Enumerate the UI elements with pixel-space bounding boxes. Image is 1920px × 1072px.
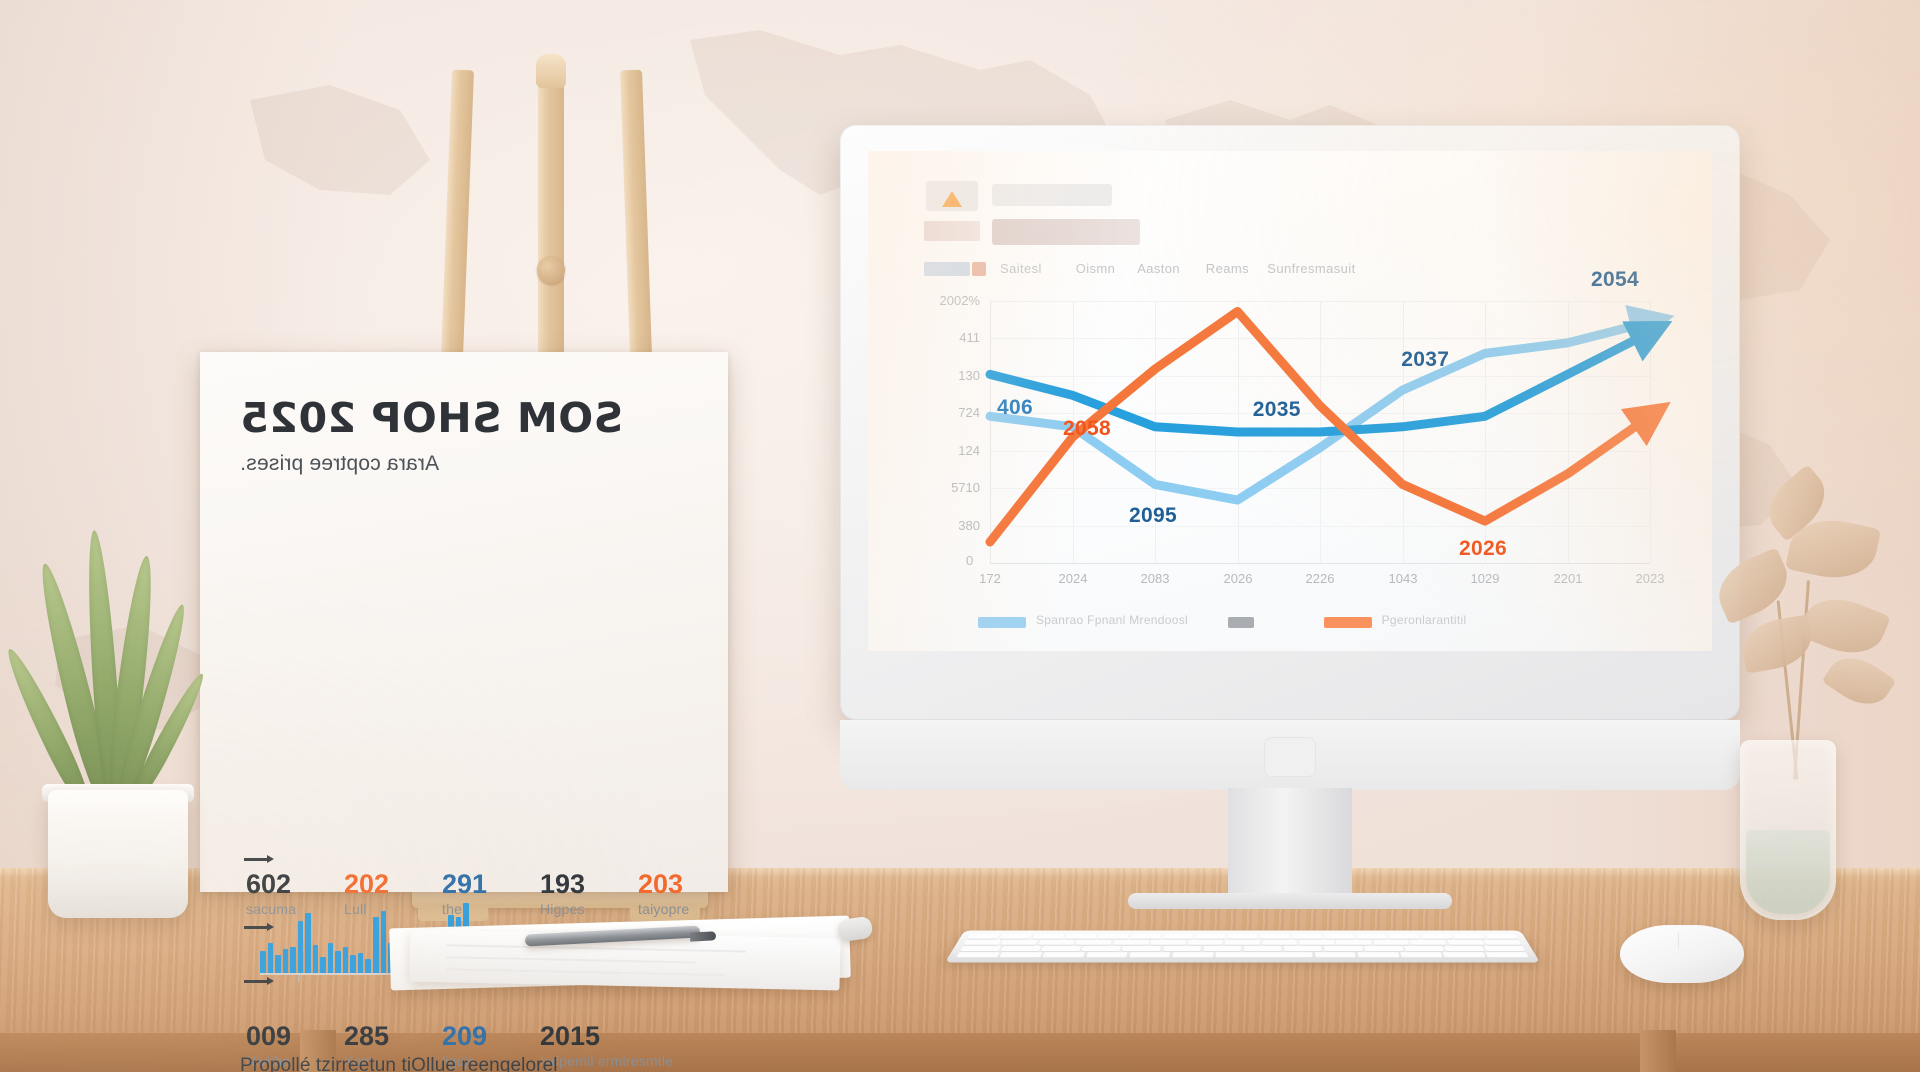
chart-x-axis bbox=[990, 563, 1650, 564]
keyboard[interactable] bbox=[945, 931, 1540, 963]
app-navigation-bar[interactable]: SaiteslOismnAastonReamsSunfresmasuit bbox=[924, 261, 1624, 279]
x-axis-tick-label: 2201 bbox=[1530, 571, 1606, 586]
poster-title-wrap: SOM SHOP 2025 bbox=[240, 394, 688, 442]
keyboard-key[interactable] bbox=[1447, 940, 1484, 945]
keyboard-key[interactable] bbox=[1400, 952, 1442, 957]
keyboard-key[interactable] bbox=[999, 952, 1042, 957]
poster-bar bbox=[343, 947, 349, 973]
poster-bar-tick bbox=[298, 975, 300, 982]
keyboard-row bbox=[956, 952, 1529, 957]
y-axis-tick-label: 5710 bbox=[951, 480, 980, 495]
nav-accent-chip bbox=[972, 262, 986, 276]
poster-bar bbox=[335, 951, 341, 973]
poster-bar bbox=[358, 953, 364, 973]
keyboard-key[interactable] bbox=[1443, 952, 1486, 957]
keyboard-key[interactable] bbox=[1001, 946, 1041, 951]
keyboard-key[interactable] bbox=[1195, 934, 1225, 939]
keyboard-key[interactable] bbox=[1032, 934, 1064, 939]
keyboard-key[interactable] bbox=[1486, 952, 1529, 957]
nav-item[interactable]: Oismn bbox=[1076, 261, 1116, 276]
chart-data-label: 2054 bbox=[1591, 268, 1639, 292]
keyboard-key[interactable] bbox=[1260, 934, 1290, 939]
keyboard-key[interactable] bbox=[1244, 946, 1282, 951]
keyboard-key[interactable] bbox=[960, 946, 1000, 951]
keyboard-key[interactable] bbox=[1299, 940, 1334, 945]
app-title-placeholder bbox=[992, 184, 1112, 206]
keyboard-key[interactable] bbox=[1404, 946, 1444, 951]
x-axis-tick-label: 2023 bbox=[1612, 571, 1688, 586]
keyboard-key[interactable] bbox=[1130, 934, 1161, 939]
keyboard-key[interactable] bbox=[1410, 940, 1447, 945]
chart-data-label: 406 bbox=[997, 396, 1033, 420]
y-axis-tick-label: 411 bbox=[959, 330, 980, 345]
desk-leg-right bbox=[1640, 1030, 1676, 1072]
keyboard-row bbox=[964, 940, 1522, 945]
poster-body-text: Propollé tzirreetun tiOllue reengeloreln… bbox=[240, 1052, 680, 1072]
chart-y-axis-zero: 0 bbox=[966, 553, 973, 568]
poster-content: SOM SHOP 2025 Arara coptree prises. bbox=[200, 352, 728, 892]
keyboard-key[interactable] bbox=[1113, 940, 1149, 945]
poster-title: SOM SHOP 2025 bbox=[240, 394, 623, 442]
keyboard-key[interactable] bbox=[1163, 946, 1201, 951]
keyboard-key[interactable] bbox=[1444, 946, 1484, 951]
x-axis-tick-label: 2083 bbox=[1117, 571, 1193, 586]
x-axis-tick-label: 1029 bbox=[1447, 571, 1523, 586]
keyboard-key[interactable] bbox=[1484, 946, 1524, 951]
paper-ruled-line bbox=[446, 944, 746, 952]
keyboard-key[interactable] bbox=[1421, 934, 1453, 939]
poster-bar bbox=[305, 913, 311, 973]
plant-pot bbox=[48, 790, 188, 918]
poster-bar bbox=[290, 947, 296, 973]
monitor-brand-logo bbox=[1264, 737, 1316, 777]
keyboard-key[interactable] bbox=[1225, 940, 1260, 945]
chart-data-label: 2058 bbox=[1063, 417, 1111, 441]
keyboard-key[interactable] bbox=[1262, 940, 1297, 945]
keyboard-key[interactable] bbox=[1203, 946, 1241, 951]
app-subtitle-bar bbox=[992, 219, 1140, 245]
keyboard-key[interactable] bbox=[1315, 952, 1356, 957]
presentation-poster[interactable]: SOM SHOP 2025 Arara coptree prises. 602s… bbox=[200, 352, 728, 892]
monitor-stand-neck bbox=[1228, 788, 1352, 898]
paper-ruled-line bbox=[446, 968, 726, 976]
keyboard-key[interactable] bbox=[1043, 952, 1085, 957]
poster-subtitle-wrap: Arara coptree prises. bbox=[240, 442, 688, 476]
nav-item[interactable]: Saitesl bbox=[1000, 261, 1042, 276]
poster-subtitle: Arara coptree prises. bbox=[240, 452, 439, 476]
y-axis-tick-label: 124 bbox=[958, 443, 980, 458]
chart-data-label: 2037 bbox=[1401, 348, 1449, 372]
x-axis-tick-label: 2024 bbox=[1035, 571, 1111, 586]
mouse-button-divider bbox=[1678, 933, 1679, 949]
y-axis-tick-label: 724 bbox=[958, 405, 980, 420]
keyboard-key[interactable] bbox=[1082, 946, 1121, 951]
chart-legend: Spanrao Fpnanl MrendooslPgeronlarantitil bbox=[978, 613, 1618, 633]
gridline-vertical bbox=[1650, 301, 1651, 563]
legend-swatch bbox=[978, 617, 1026, 628]
poster-row-marker-top bbox=[244, 858, 270, 861]
y-axis-tick-label: 380 bbox=[958, 518, 980, 533]
poster-bar bbox=[365, 959, 371, 973]
poster-bar bbox=[350, 955, 356, 973]
keyboard-key[interactable] bbox=[1150, 940, 1185, 945]
keyboard-row bbox=[960, 946, 1525, 951]
keyboard-key[interactable] bbox=[1172, 952, 1213, 957]
keyboard-key[interactable] bbox=[1122, 946, 1161, 951]
poster-bar bbox=[320, 957, 326, 973]
vase-water bbox=[1746, 830, 1830, 914]
keyboard-key[interactable] bbox=[1162, 934, 1192, 939]
keyboard-key[interactable] bbox=[1076, 940, 1112, 945]
easel-top-knob bbox=[536, 54, 566, 88]
pen-tip bbox=[690, 931, 716, 941]
poster-stat-value: 009 bbox=[246, 1022, 322, 1050]
poster-bar bbox=[328, 943, 334, 973]
keyboard-key[interactable] bbox=[967, 934, 999, 939]
keyboard-key[interactable] bbox=[1324, 946, 1363, 951]
keyboard-key[interactable] bbox=[1389, 934, 1420, 939]
app-subtitle-left-chip bbox=[924, 221, 980, 241]
poster-bar bbox=[373, 917, 379, 973]
poster-bar bbox=[283, 949, 289, 973]
nav-item[interactable]: Reams bbox=[1206, 261, 1249, 276]
legend-label: Spanrao Fpnanl Mrendoosl bbox=[1036, 613, 1188, 627]
keyboard-key[interactable] bbox=[1357, 952, 1399, 957]
keyboard-key[interactable] bbox=[1356, 934, 1387, 939]
keyboard-key[interactable] bbox=[1065, 934, 1096, 939]
desktop-monitor: SaiteslOismnAastonReamsSunfresmasuit 0 bbox=[840, 125, 1740, 915]
poster-body-line: Propollé tzirreetun tiOllue reengelorel bbox=[240, 1052, 680, 1072]
monitor-stand-base bbox=[1128, 893, 1452, 909]
chart-data-label: 2095 bbox=[1129, 504, 1177, 528]
nav-item[interactable]: Aaston bbox=[1137, 261, 1180, 276]
keyboard-key[interactable] bbox=[1097, 934, 1128, 939]
paper-ruled-line bbox=[446, 956, 696, 963]
keyboard-key[interactable] bbox=[1484, 940, 1521, 945]
keyboard-key[interactable] bbox=[1001, 940, 1038, 945]
poster-stat-value: 285 bbox=[344, 1022, 420, 1050]
keyboard-key[interactable] bbox=[964, 940, 1001, 945]
keyboard-key[interactable] bbox=[1000, 934, 1032, 939]
keyboard-key[interactable] bbox=[1292, 934, 1322, 939]
keyboard-key[interactable] bbox=[1041, 946, 1081, 951]
x-axis-tick-label: 1043 bbox=[1365, 571, 1441, 586]
x-axis-tick-label: 2226 bbox=[1282, 571, 1358, 586]
keyboard-key[interactable] bbox=[1485, 934, 1517, 939]
legend-label: Pgeronlarantitil bbox=[1382, 613, 1467, 627]
poster-bar bbox=[260, 951, 266, 973]
monitor-bezel: SaiteslOismnAastonReamsSunfresmasuit 0 bbox=[840, 125, 1740, 720]
keyboard-key[interactable] bbox=[1227, 934, 1257, 939]
poster-bar bbox=[268, 943, 274, 973]
triangle-logo-icon bbox=[942, 191, 962, 207]
poster-row-marker-bottom bbox=[244, 980, 270, 983]
poster-bar bbox=[298, 921, 304, 973]
keyboard-row bbox=[967, 934, 1517, 939]
keyboard-key[interactable] bbox=[1364, 946, 1403, 951]
x-axis-tick-label: 2026 bbox=[1200, 571, 1276, 586]
keyboard-key[interactable] bbox=[1373, 940, 1409, 945]
keyboard-keys[interactable] bbox=[955, 934, 1529, 959]
keyboard-key[interactable] bbox=[1215, 952, 1312, 957]
poster-stat-value: 209 bbox=[442, 1022, 518, 1050]
monitor-screen[interactable]: SaiteslOismnAastonReamsSunfresmasuit 0 bbox=[868, 151, 1712, 651]
keyboard-key[interactable] bbox=[1336, 940, 1372, 945]
keyboard-key[interactable] bbox=[1284, 946, 1322, 951]
keyboard-key[interactable] bbox=[1324, 934, 1355, 939]
computer-mouse[interactable] bbox=[1620, 925, 1744, 983]
nav-brand-chip bbox=[924, 262, 970, 276]
keyboard-key[interactable] bbox=[1453, 934, 1485, 939]
easel-leg-center bbox=[538, 60, 564, 360]
easel-pivot-screw bbox=[537, 256, 565, 284]
keyboard-key[interactable] bbox=[1129, 952, 1170, 957]
poster-stat-value: 2015 bbox=[540, 1022, 673, 1050]
chart-data-label: 2035 bbox=[1253, 398, 1301, 422]
keyboard-key[interactable] bbox=[1086, 952, 1128, 957]
keyboard-key[interactable] bbox=[1188, 940, 1223, 945]
legend-swatch bbox=[1324, 617, 1372, 628]
poster-bar bbox=[313, 945, 319, 973]
legend-swatch bbox=[1228, 617, 1254, 628]
line-chart: 0 2002%411130724124 bbox=[920, 301, 1664, 591]
chart-data-label: 2026 bbox=[1459, 537, 1507, 561]
keyboard-key[interactable] bbox=[956, 952, 999, 957]
keyboard-key[interactable] bbox=[1038, 940, 1075, 945]
x-axis-tick-label: 172 bbox=[952, 571, 1028, 586]
y-axis-tick-label: 130 bbox=[958, 368, 980, 383]
y-axis-tick-label: 2002% bbox=[940, 293, 980, 308]
nav-item[interactable]: Sunfresmasuit bbox=[1267, 261, 1355, 276]
poster-bar bbox=[381, 911, 387, 973]
poster-bar bbox=[275, 955, 281, 973]
